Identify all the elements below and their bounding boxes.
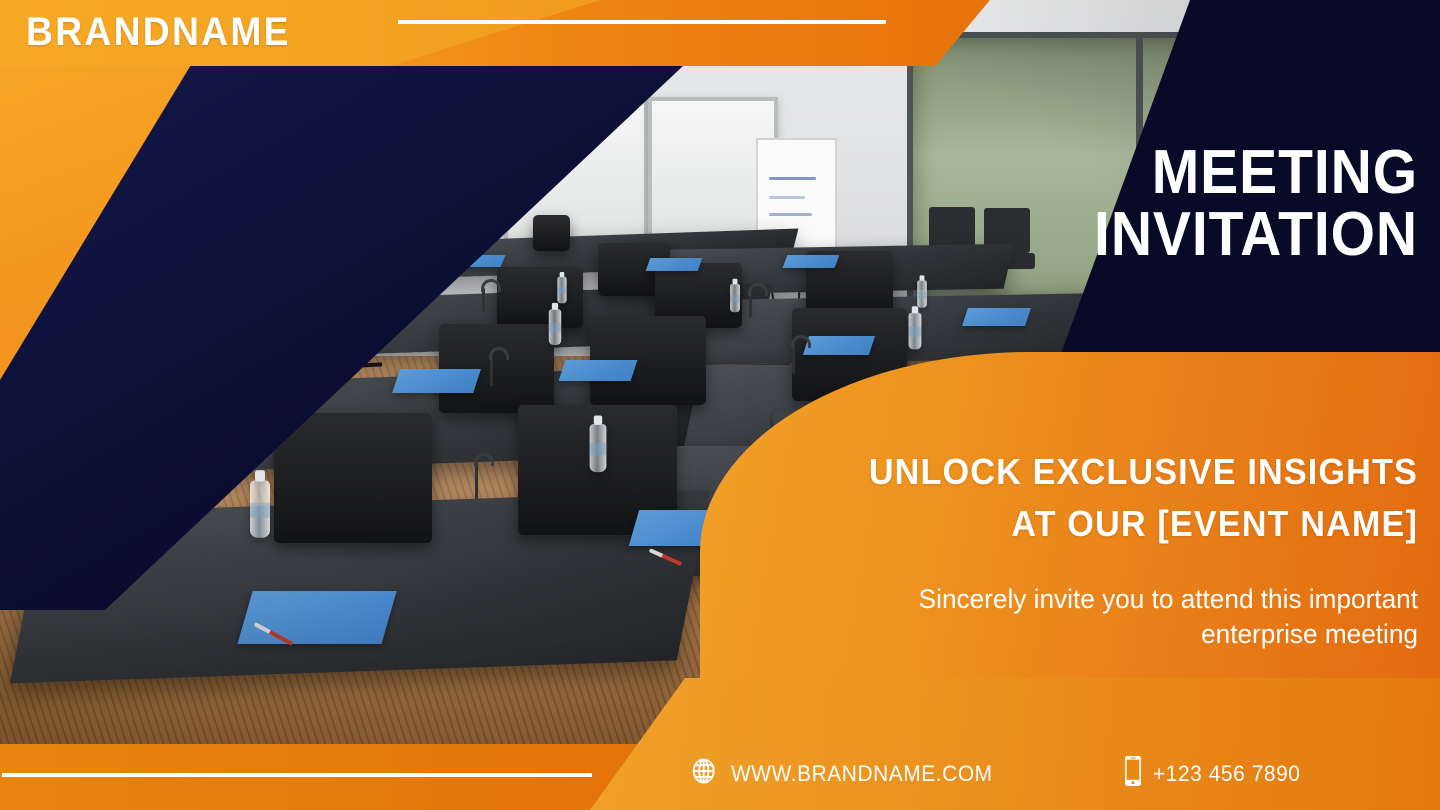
website-text: WWW.BRANDNAME.COM bbox=[731, 761, 993, 787]
title-line-2: INVITATION bbox=[1022, 204, 1418, 266]
website-contact[interactable]: WWW.BRANDNAME.COM bbox=[690, 756, 1006, 791]
headline: UNLOCK EXCLUSIVE INSIGHTS AT OUR [EVENT … bbox=[848, 446, 1418, 550]
subtitle-line-2: enterprise meeting bbox=[817, 617, 1418, 652]
title-line-1: MEETING bbox=[1152, 138, 1418, 207]
phone-text: +123 456 7890 bbox=[1153, 761, 1300, 787]
meeting-invitation-banner: BRANDNAME MEETING INVITATION UNLOCK EXCL… bbox=[0, 0, 1440, 810]
headline-line-2: AT OUR [EVENT NAME] bbox=[848, 498, 1418, 550]
footer-divider-line bbox=[2, 773, 592, 777]
globe-icon bbox=[690, 756, 720, 791]
page-title: MEETING INVITATION bbox=[1022, 142, 1418, 266]
brand-logo-text: BRANDNAME bbox=[26, 8, 291, 56]
geometric-overlay bbox=[0, 0, 1440, 810]
subtitle: Sincerely invite you to attend this impo… bbox=[817, 582, 1418, 652]
subtitle-line-1: Sincerely invite you to attend this impo… bbox=[919, 584, 1418, 614]
header-divider-line bbox=[398, 20, 886, 24]
headline-line-1: UNLOCK EXCLUSIVE INSIGHTS bbox=[869, 451, 1418, 492]
mobile-phone-icon bbox=[1124, 755, 1142, 792]
phone-contact[interactable]: +123 456 7890 bbox=[1124, 755, 1308, 792]
footer-contact-bar: WWW.BRANDNAME.COM +123 456 7890 bbox=[690, 755, 1309, 792]
